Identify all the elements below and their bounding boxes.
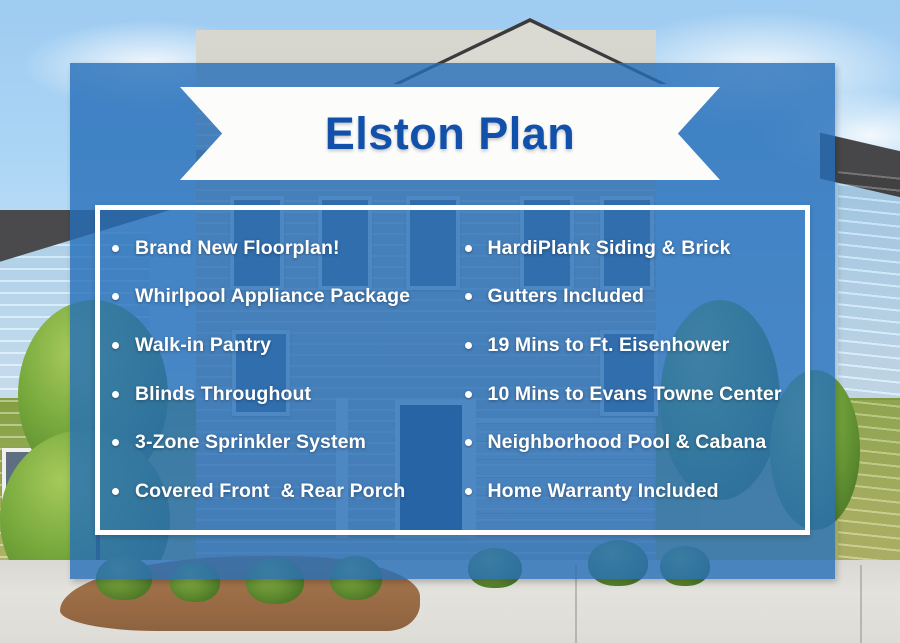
feature-item: Home Warranty Included [453, 467, 806, 516]
feature-item: Whirlpool Appliance Package [100, 273, 453, 322]
features-box: Brand New Floorplan! HardiPlank Siding &… [95, 205, 810, 535]
bullet-dot-icon [465, 488, 472, 495]
bullet-dot-icon [112, 488, 119, 495]
feature-label: 3-Zone Sprinkler System [135, 431, 366, 454]
title-ribbon-banner: Elston Plan [180, 87, 720, 180]
feature-label: Covered Front & Rear Porch [135, 480, 405, 503]
feature-label: 19 Mins to Ft. Eisenhower [488, 334, 730, 357]
bullet-dot-icon [112, 245, 119, 252]
bullet-dot-icon [465, 391, 472, 398]
flyer-canvas: Elston Plan Brand New Floorplan! HardiPl… [0, 0, 900, 643]
bullet-dot-icon [465, 245, 472, 252]
bullet-dot-icon [465, 439, 472, 446]
feature-item: Walk-in Pantry [100, 321, 453, 370]
feature-label: Brand New Floorplan! [135, 237, 340, 260]
bullet-dot-icon [112, 391, 119, 398]
feature-label: 10 Mins to Evans Towne Center [488, 383, 782, 406]
feature-item: 10 Mins to Evans Towne Center [453, 370, 806, 419]
feature-label: Home Warranty Included [488, 480, 719, 503]
feature-label: Neighborhood Pool & Cabana [488, 431, 767, 454]
feature-label: HardiPlank Siding & Brick [488, 237, 731, 260]
feature-label: Whirlpool Appliance Package [135, 285, 410, 308]
feature-item: 3-Zone Sprinkler System [100, 419, 453, 468]
feature-item: Brand New Floorplan! [100, 224, 453, 273]
bullet-dot-icon [465, 293, 472, 300]
bullet-dot-icon [112, 439, 119, 446]
driveway-seam [860, 565, 862, 643]
feature-item: 19 Mins to Ft. Eisenhower [453, 321, 806, 370]
bullet-dot-icon [465, 342, 472, 349]
feature-item: HardiPlank Siding & Brick [453, 224, 806, 273]
features-grid: Brand New Floorplan! HardiPlank Siding &… [100, 210, 805, 530]
feature-item: Covered Front & Rear Porch [100, 467, 453, 516]
feature-label: Gutters Included [488, 285, 645, 308]
feature-item: Blinds Throughout [100, 370, 453, 419]
neighbor-house-right [838, 171, 900, 585]
page-title: Elston Plan [325, 111, 576, 156]
feature-item: Neighborhood Pool & Cabana [453, 419, 806, 468]
feature-label: Blinds Throughout [135, 383, 311, 406]
feature-item: Gutters Included [453, 273, 806, 322]
bullet-dot-icon [112, 342, 119, 349]
bullet-dot-icon [112, 293, 119, 300]
feature-label: Walk-in Pantry [135, 334, 271, 357]
